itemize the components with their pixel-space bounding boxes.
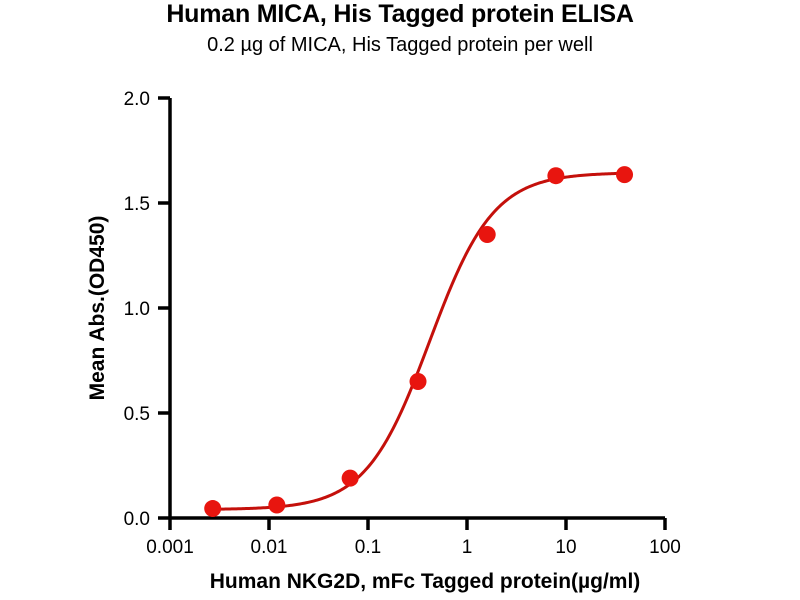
y-tick-label: 2.0	[124, 89, 150, 110]
chart-page: Human MICA, His Tagged protein ELISA 0.2…	[0, 0, 800, 600]
axes	[170, 98, 665, 518]
y-axis-ticks: 0.00.51.01.52.0	[124, 89, 170, 530]
fit-curve-group	[213, 173, 625, 509]
x-tick-label: 0.01	[251, 537, 288, 558]
y-axis-title: Mean Abs.(OD450)	[86, 216, 109, 401]
x-tick-label: 0.001	[146, 537, 194, 558]
y-tick-label: 1.5	[124, 194, 150, 215]
data-point-marker	[547, 167, 564, 184]
x-axis-ticks: 0.0010.010.1110100	[146, 518, 681, 558]
y-tick-label: 0.5	[124, 404, 150, 425]
y-tick-label: 1.0	[124, 299, 150, 320]
x-axis-title: Human NKG2D, mFc Tagged protein(µg/ml)	[210, 570, 641, 593]
data-point-marker	[204, 500, 221, 517]
x-tick-label: 0.1	[355, 537, 381, 558]
data-point-marker	[410, 373, 427, 390]
data-point-marker	[268, 496, 285, 513]
x-tick-label: 1	[462, 537, 473, 558]
data-points-group	[204, 166, 633, 517]
data-point-marker	[479, 226, 496, 243]
x-tick-label: 100	[649, 537, 681, 558]
data-point-marker	[342, 470, 359, 487]
elisa-dose-response-plot: 0.00.51.01.52.0 0.0010.010.1110100 Human…	[0, 0, 800, 600]
x-tick-label: 10	[555, 537, 576, 558]
sigmoid-fit-curve	[213, 173, 625, 509]
y-tick-label: 0.0	[124, 509, 150, 530]
data-point-marker	[616, 166, 633, 183]
